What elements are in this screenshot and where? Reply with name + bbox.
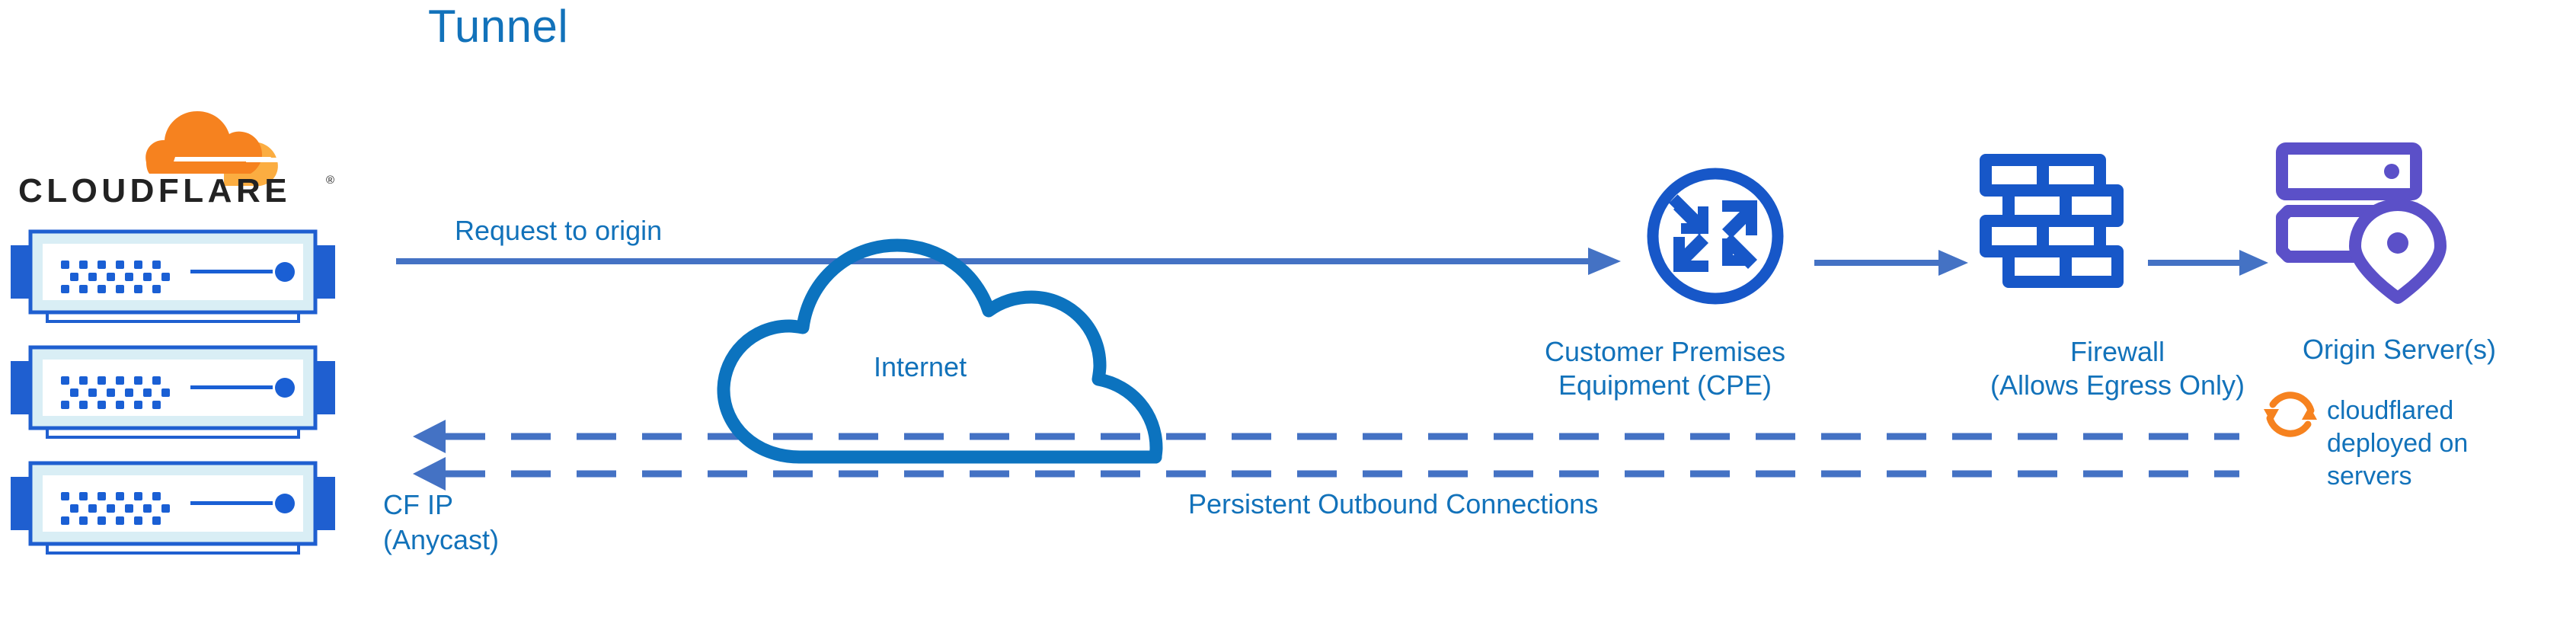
cloudflare-edge-server-rack [9, 451, 337, 556]
persistent-outbound-connection-lower [413, 457, 2239, 491]
origin-server-location-pin-icon [2276, 141, 2451, 301]
cloudflared-deployed-label: cloudflared deployed on servers [2327, 395, 2533, 492]
origin-server-label: Origin Server(s) [2239, 333, 2559, 366]
cpe-converging-arrows-icon [1643, 164, 1788, 308]
svg-text:CLOUDFLARE: CLOUDFLARE [18, 172, 291, 206]
cf-ip-anycast-label: CF IP (Anycast) [383, 488, 499, 558]
persistent-outbound-connection-upper [413, 420, 2239, 453]
tunnel-diagram: Tunnel CLOUDFLARE ® [0, 0, 2576, 617]
cloudflare-edge-server-rack [9, 335, 337, 440]
internet-label: Internet [874, 350, 967, 384]
firewall-to-origin-arrow [2148, 250, 2268, 276]
firewall-brick-wall-icon [1977, 152, 2129, 297]
cloudflare-logo: CLOUDFLARE ® [18, 103, 338, 206]
svg-text:®: ® [326, 174, 334, 187]
persistent-outbound-connections-label: Persistent Outbound Connections [1188, 488, 1598, 521]
request-to-origin-label: Request to origin [455, 214, 662, 248]
firewall-label: Firewall (Allows Egress Only) [1958, 335, 2277, 402]
cloudflare-edge-server-rack [9, 219, 337, 324]
page-title: Tunnel [428, 0, 568, 53]
cpe-label: Customer Premises Equipment (CPE) [1497, 335, 1833, 402]
cpe-to-firewall-arrow [1814, 250, 1968, 276]
